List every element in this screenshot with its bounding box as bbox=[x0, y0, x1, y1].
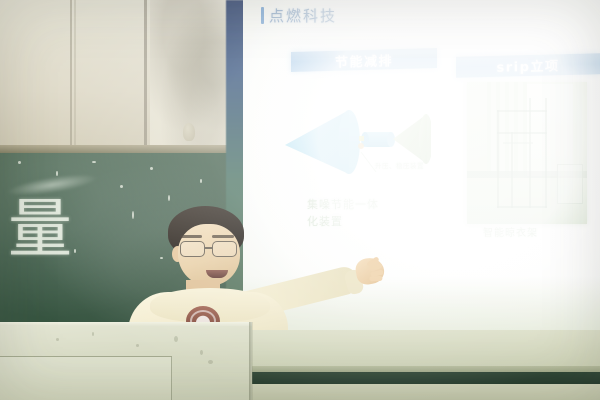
presenter-eyebrow bbox=[180, 235, 202, 238]
chalkboard-text: 量 bbox=[8, 198, 72, 262]
column-header-right: srip立项 bbox=[456, 53, 600, 78]
glasses-lens-right bbox=[212, 241, 237, 257]
glasses-icon bbox=[180, 241, 242, 258]
title-accent-bar bbox=[261, 7, 264, 24]
floor bbox=[252, 384, 600, 400]
diagram-label: 升压、稳压装置 bbox=[375, 162, 424, 171]
lecture-photo: 量 点燃科技 节能减排 srip立项 bbox=[0, 0, 600, 400]
column-header-right-text: srip立项 bbox=[497, 55, 560, 76]
presenter-eyebrow bbox=[212, 235, 234, 238]
lectern-panel bbox=[0, 356, 172, 400]
slide-title-text: 点燃科技 bbox=[269, 5, 337, 26]
cone-assembly-diagram: 升压、稳压装置 bbox=[281, 100, 431, 185]
photo-caption: 智能晾衣架 bbox=[483, 225, 538, 242]
wall-seam bbox=[144, 0, 147, 152]
glasses-lens-left bbox=[180, 241, 205, 257]
column-header-left-text: 节能减排 bbox=[335, 50, 393, 71]
slide-title: 点燃科技 bbox=[261, 5, 337, 26]
cone-diagram-svg bbox=[281, 100, 431, 185]
photo-stool bbox=[557, 164, 583, 204]
wall-seam bbox=[74, 0, 76, 152]
lectern-edge bbox=[249, 322, 253, 400]
glasses-bridge bbox=[205, 247, 212, 249]
photo-window bbox=[527, 84, 573, 176]
column-header-left: 节能减排 bbox=[291, 48, 437, 72]
drying-rack-photo bbox=[467, 82, 587, 224]
wall-seam bbox=[70, 0, 72, 152]
wall-knob bbox=[183, 123, 195, 141]
